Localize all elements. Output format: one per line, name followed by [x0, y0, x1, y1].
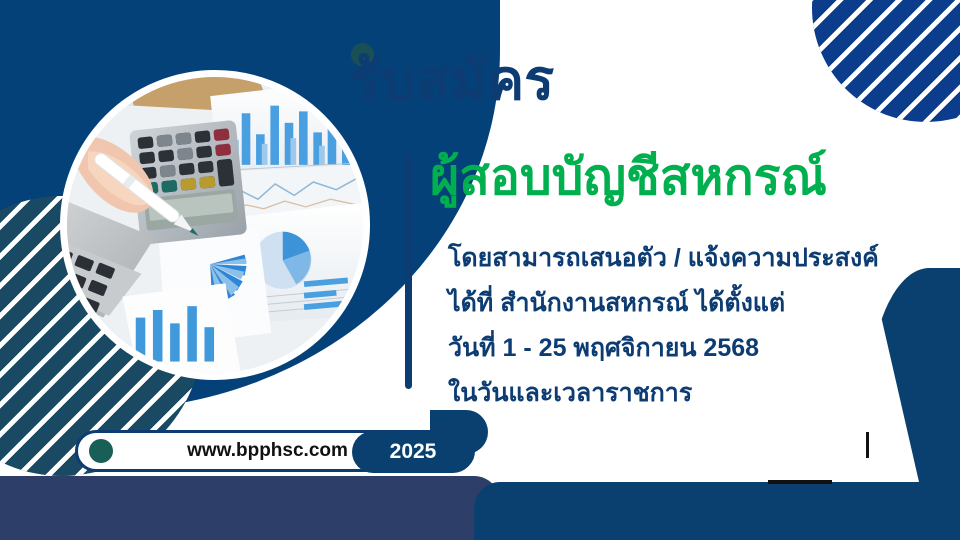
- bottom-right-navy-band: [474, 482, 960, 540]
- page-title-sub: ผู้สอบบัญชีสหกรณ์: [430, 152, 827, 202]
- horizontal-tick-mark: [768, 480, 832, 484]
- top-right-striped-circle-decoration: [812, 0, 960, 122]
- body-line-3: วันที่ 1 - 25 พฤศจิกายน 2568: [448, 326, 879, 371]
- website-pill[interactable]: www.bpphsc.com 2025: [75, 430, 475, 472]
- announcement-body: โดยสามารถเสนอตัว / แจ้งความประสงค์ ได้ที…: [448, 236, 879, 416]
- bullet-dot-icon: [89, 439, 113, 463]
- bottom-left-muted-navy-band: [0, 476, 500, 540]
- vertical-tick-mark: [866, 432, 869, 458]
- year-badge: 2025: [352, 431, 474, 473]
- accounting-photo-illustration: [67, 77, 363, 373]
- body-line-2: ได้ที่ สำนักงานสหกรณ์ ได้ตั้งแต่: [448, 281, 879, 326]
- body-line-4: ในวันและเวลาราชการ: [448, 371, 879, 416]
- accounting-photo-circle: [60, 70, 370, 380]
- poster-canvas: รับสมัคร ผู้สอบบัญชีสหกรณ์ โดยสามารถเสนอ…: [0, 0, 960, 540]
- page-title-main: รับสมัคร: [350, 52, 554, 108]
- body-line-1: โดยสามารถเสนอตัว / แจ้งความประสงค์: [448, 236, 879, 281]
- navy-vertical-accent-bar: [405, 155, 412, 389]
